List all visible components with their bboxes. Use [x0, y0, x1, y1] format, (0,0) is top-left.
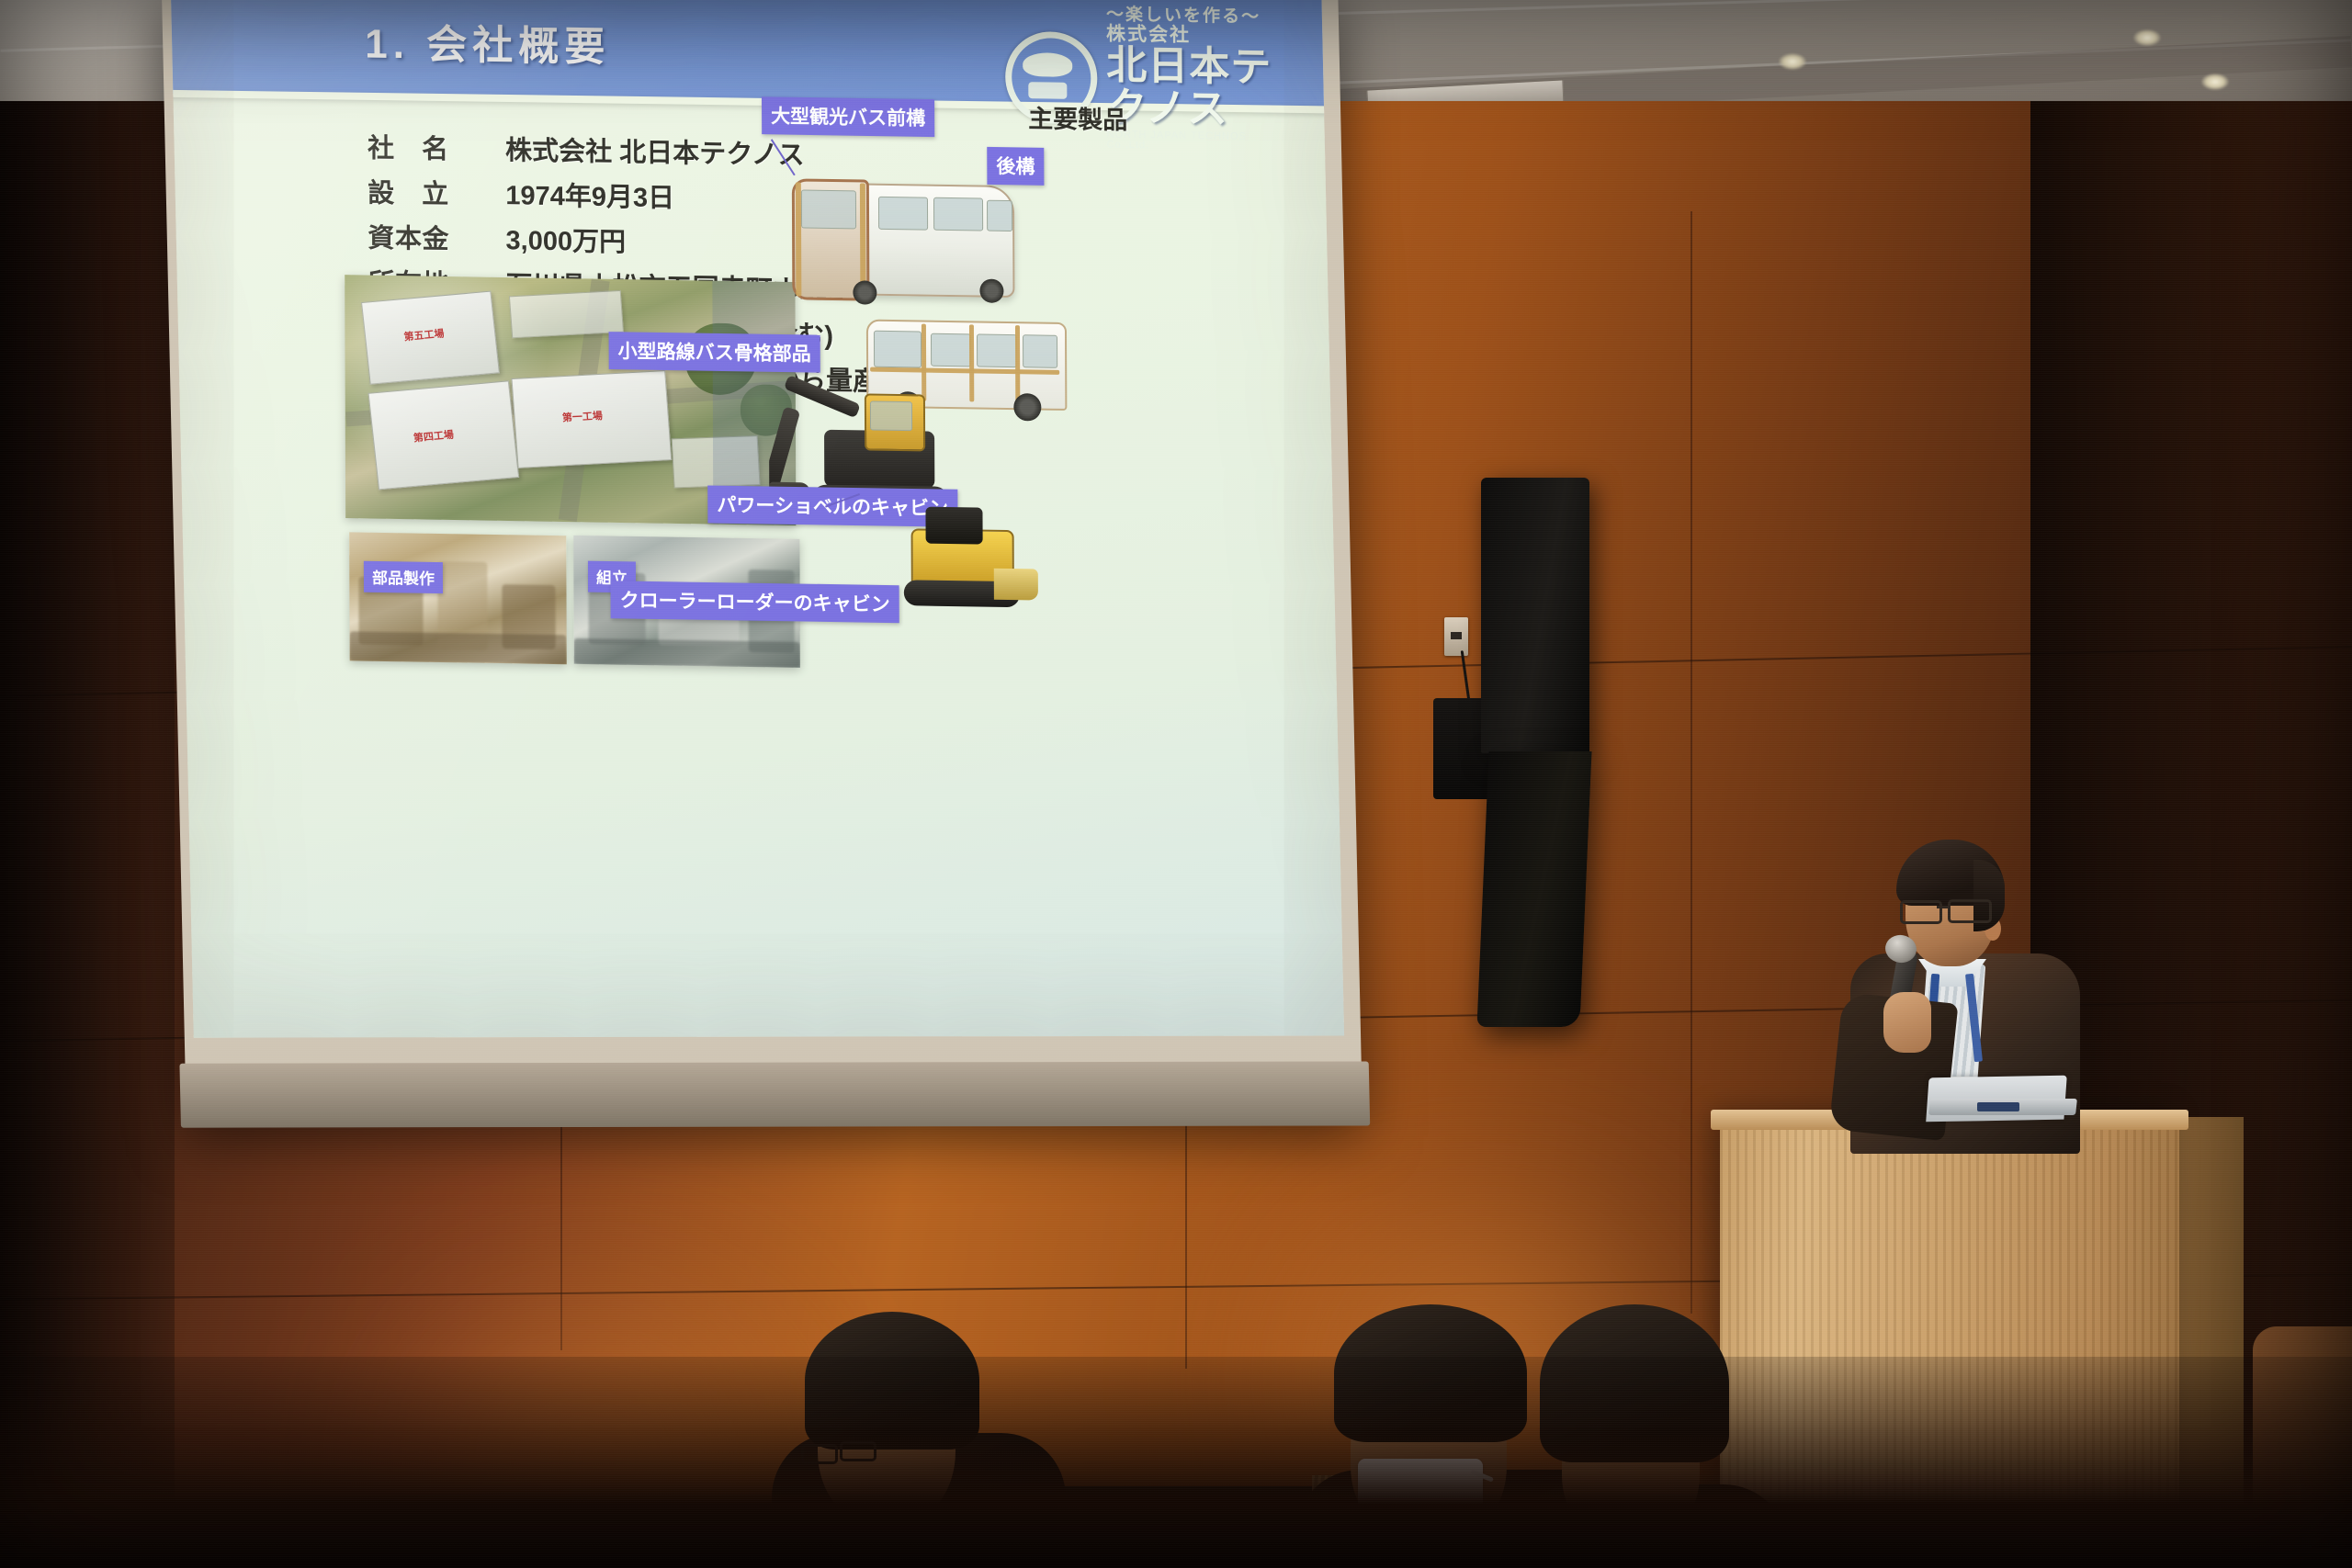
photo-parts-manufacturing [349, 532, 567, 664]
projection-screen: 1. 会社概要 ～楽しいを作る～ 株式会社 北日本テクノス NORTH JAPA… [162, 0, 1363, 1122]
photo-caption-parts: 部品製作 [364, 561, 443, 593]
wall-speaker-lower [1476, 751, 1591, 1027]
presentation-slide: 1. 会社概要 ～楽しいを作る～ 株式会社 北日本テクノス NORTH JAPA… [171, 0, 1344, 1038]
wall-outlet[interactable] [1444, 617, 1468, 656]
wall-speaker-upper [1481, 478, 1589, 753]
info-value: 1974年9月3日 [505, 174, 674, 215]
logo-english-name: NORTH JAPAN TECHNOS Co.,Ltd. [1107, 130, 1282, 153]
ceiling-downlight [2133, 29, 2161, 46]
factory-marker: 第一工場 [561, 408, 603, 424]
product-label-bus-rear: 後構 [987, 147, 1044, 186]
logo-company-name: 北日本テクノス [1106, 45, 1281, 132]
ceiling-downlight [2201, 73, 2229, 90]
photo-large-tour-bus [783, 160, 1059, 330]
product-label-minibus: 小型路線バス骨格部品 [609, 332, 820, 373]
laptop-badge [1977, 1102, 2019, 1111]
info-label: 資本金 [367, 217, 505, 257]
screenshot-root: 1. 会社概要 ～楽しいを作る～ 株式会社 北日本テクノス NORTH JAPA… [0, 0, 2352, 1568]
info-value: 3,000万円 [505, 219, 626, 259]
info-value: 株式会社 北日本テクノス [505, 129, 805, 172]
main-products-heading: 主要製品 [1028, 98, 1127, 136]
eyeglasses-icon [1900, 900, 1996, 919]
info-label: 設 立 [367, 172, 505, 212]
product-label-bus-front: 大型観光バス前構 [762, 96, 934, 137]
foreground-shadow [0, 1357, 2352, 1568]
ceiling-downlight [1779, 53, 1806, 70]
photo-crawler-loader [890, 501, 1047, 623]
slide-title: 1. 会社概要 [365, 11, 610, 73]
product-label-loader: クローラーローダーのキャビン [610, 581, 899, 623]
info-label: 社 名 [367, 127, 505, 167]
screen-bottom-bar [179, 1061, 1370, 1127]
